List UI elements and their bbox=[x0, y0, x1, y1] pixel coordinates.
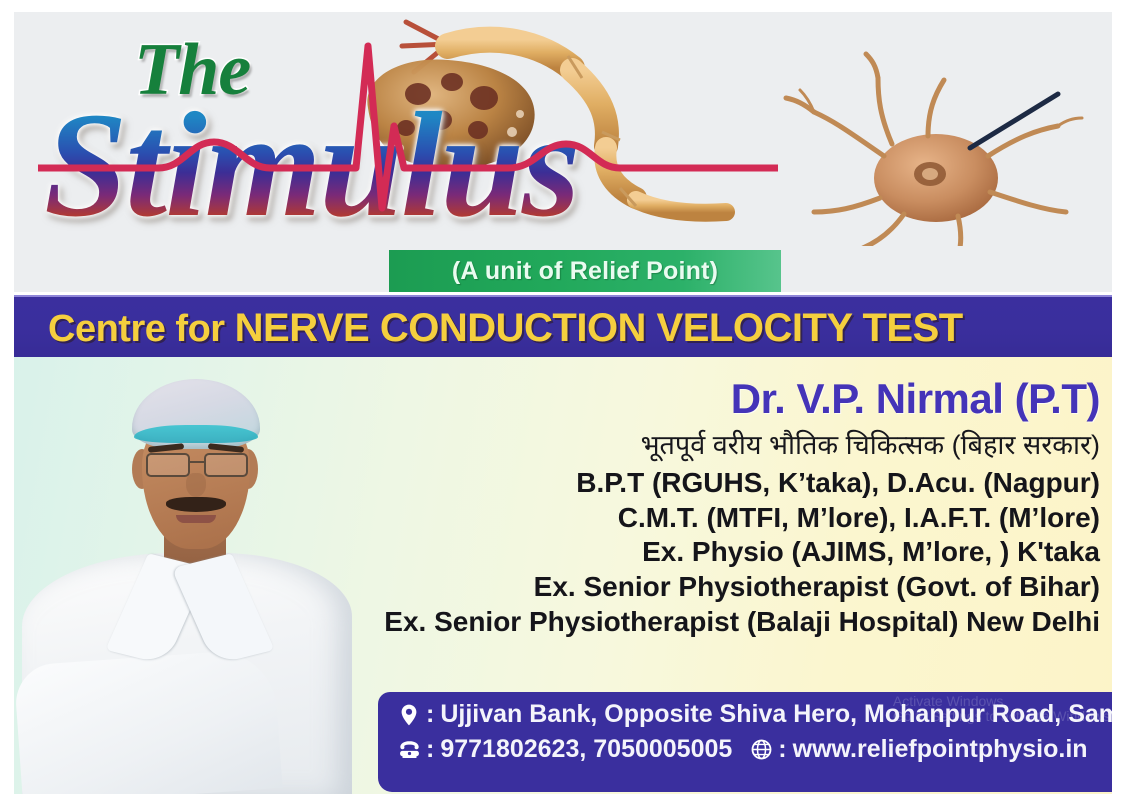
logo-stimulus-text: Stimulus bbox=[44, 90, 578, 240]
doctor-hindi-title: भूतपूर्व वरीय भौतिक चिकित्सक (बिहार सरका… bbox=[344, 425, 1100, 462]
unit-badge-label: (A unit of Relief Point) bbox=[452, 257, 718, 286]
phone-separator: : bbox=[426, 735, 434, 764]
doctor-nose bbox=[186, 473, 206, 497]
phone-numbers: 9771802623, 7050005005 bbox=[440, 735, 732, 764]
eyeglasses-icon bbox=[144, 453, 250, 473]
doctor-photo: Dr V. P. Nirmal Senior Physiotherapist R… bbox=[14, 357, 384, 794]
lens-left bbox=[146, 453, 190, 477]
logo-header: The Stimulus (A unit of Relief Point) bbox=[14, 12, 1112, 292]
web-separator: : bbox=[778, 735, 786, 764]
telephone-icon bbox=[396, 737, 422, 763]
credential-line: Ex. Physio (AJIMS, M’lore, ) K'taka bbox=[344, 535, 1100, 570]
doctor-name: Dr. V.P. Nirmal (P.T) bbox=[344, 375, 1100, 423]
address-separator: : bbox=[426, 700, 434, 729]
credentials-block: Dr. V.P. Nirmal (P.T) भूतपूर्व वरीय भौति… bbox=[344, 375, 1106, 640]
contact-bar: : Ujjivan Bank, Opposite Shiva Hero, Moh… bbox=[378, 692, 1112, 792]
location-pin-icon bbox=[396, 702, 422, 728]
credential-line: B.P.T (RGUHS, K’taka), D.Acu. (Nagpur) bbox=[344, 466, 1100, 501]
credential-line: Ex. Senior Physiotherapist (Govt. of Bih… bbox=[344, 570, 1100, 605]
banner-emphasis: NERVE CONDUCTION VELOCITY TEST bbox=[235, 306, 963, 350]
credential-line: Ex. Senior Physiotherapist (Balaji Hospi… bbox=[344, 605, 1100, 640]
doctor-mouth bbox=[176, 515, 216, 523]
surgical-cap-band bbox=[134, 425, 258, 443]
address-text: Ujjivan Bank, Opposite Shiva Hero, Mohan… bbox=[440, 700, 1112, 729]
banner-title: Centre for NERVE CONDUCTION VELOCITY TES… bbox=[48, 306, 963, 351]
logo-the-text: The bbox=[134, 28, 250, 113]
banner-lead: Centre for bbox=[48, 308, 235, 350]
phone-web-row: : 9771802623, 7050005005 : www.reliefpoi… bbox=[396, 735, 1112, 764]
lens-right bbox=[204, 453, 248, 477]
address-row: : Ujjivan Bank, Opposite Shiva Hero, Moh… bbox=[396, 700, 1112, 729]
business-card: The Stimulus (A unit of Relief Point) Ce… bbox=[0, 0, 1126, 806]
doctor-mustache bbox=[166, 497, 226, 512]
doctor-arm bbox=[14, 648, 283, 794]
credential-line: C.M.T. (MTFI, M’lore), I.A.F.T. (M’lore) bbox=[344, 501, 1100, 536]
website-text: www.reliefpointphysio.in bbox=[793, 735, 1088, 764]
title-banner: Centre for NERVE CONDUCTION VELOCITY TES… bbox=[14, 295, 1112, 359]
globe-icon bbox=[748, 737, 774, 763]
unit-of-relief-point-badge: (A unit of Relief Point) bbox=[389, 250, 781, 292]
